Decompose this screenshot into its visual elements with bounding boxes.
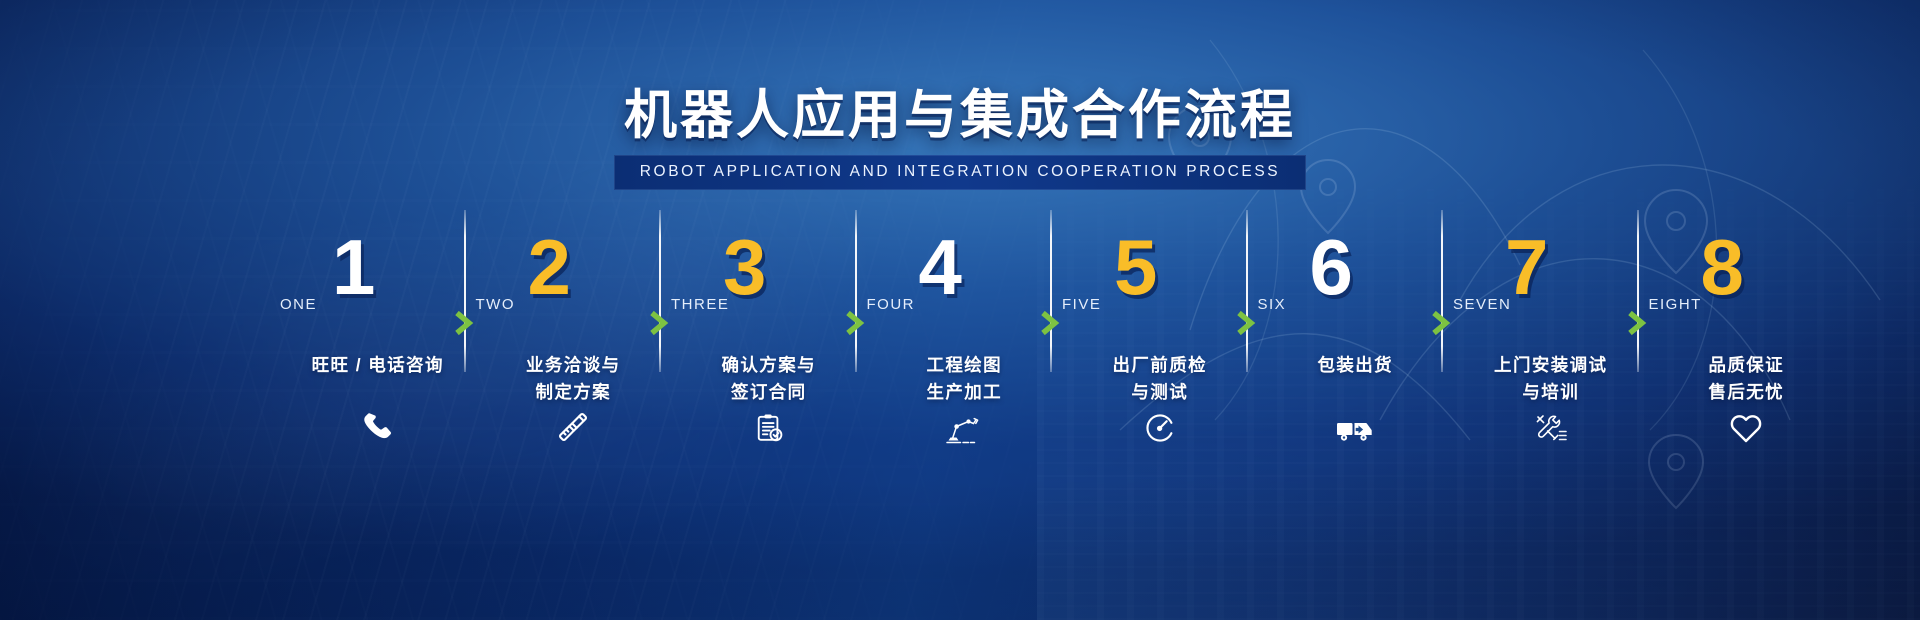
step-description: 包装出货: [1250, 352, 1446, 379]
step-number: 3: [723, 228, 766, 306]
step-description: 品质保证售后无忧: [1641, 352, 1837, 406]
step-divider-line: [1441, 210, 1443, 372]
page-title: 机器人应用与集成合作流程: [0, 88, 1920, 143]
banner-subtitle: ROBOT APPLICATION AND INTEGRATION COOPER…: [614, 155, 1306, 190]
step-description: 工程绘图生产加工: [859, 352, 1055, 406]
step-description-line: 生产加工: [875, 379, 1055, 406]
step-number: 1: [332, 228, 375, 306]
step-divider-line: [1050, 210, 1052, 372]
step-divider-line: [1637, 210, 1639, 372]
step-description-line: 与培训: [1461, 379, 1641, 406]
step-description-line: 出厂前质检: [1070, 352, 1250, 379]
step-description: 旺旺 / 电话咨询: [272, 352, 468, 379]
step-description-line: 制定方案: [484, 379, 664, 406]
step-word-label: ONE: [280, 296, 317, 313]
step-word-label: SEVEN: [1453, 296, 1511, 313]
step-number-row: SIX6: [1250, 246, 1446, 350]
step-description-line: 包装出货: [1266, 352, 1446, 379]
step-description-line: 品质保证: [1657, 352, 1837, 379]
step-divider-line: [1246, 210, 1248, 372]
ruler-pencil-icon: [468, 410, 664, 446]
step-word-label: TWO: [476, 296, 516, 313]
process-banner: 机器人应用与集成合作流程 ROBOT APPLICATION AND INTEG…: [0, 0, 1920, 620]
step-divider-line: [464, 210, 466, 372]
step-number-row: ONE1: [272, 246, 468, 350]
step-description-line: 签订合同: [679, 379, 859, 406]
step-description-line: 确认方案与: [679, 352, 859, 379]
step-number-row: FOUR4: [859, 246, 1055, 350]
step-description-line: 旺旺 / 电话咨询: [288, 352, 468, 379]
step-number-row: TWO2: [468, 246, 664, 350]
process-step-5: FIVE5出厂前质检与测试: [1054, 246, 1250, 446]
step-number-row: FIVE5: [1054, 246, 1250, 350]
process-step-list: ONE1旺旺 / 电话咨询TWO2业务洽谈与制定方案 THREE3确认方案与签订…: [272, 246, 1836, 446]
process-step-8: EIGHT8品质保证售后无忧: [1641, 246, 1837, 446]
step-description-line: 业务洽谈与: [484, 352, 664, 379]
step-number-row: THREE3: [663, 246, 859, 350]
step-description: 确认方案与签订合同: [663, 352, 859, 406]
process-step-2: TWO2业务洽谈与制定方案: [468, 246, 664, 446]
contract-check-icon: [663, 412, 859, 446]
step-number: 7: [1505, 228, 1548, 306]
heart-icon: [1641, 412, 1837, 446]
step-number: 8: [1701, 228, 1744, 306]
gauge-icon: [1054, 412, 1250, 446]
process-step-3: THREE3确认方案与签订合同: [663, 246, 859, 446]
delivery-truck-icon: [1250, 416, 1446, 446]
step-word-label: SIX: [1258, 296, 1287, 313]
step-number: 5: [1114, 228, 1157, 306]
step-description-line: 售后无忧: [1657, 379, 1837, 406]
robot-arm-icon: [859, 414, 1055, 446]
process-step-6: SIX6包装出货: [1250, 246, 1446, 446]
step-word-label: FIVE: [1062, 296, 1101, 313]
process-step-1: ONE1旺旺 / 电话咨询: [272, 246, 468, 446]
step-divider-line: [659, 210, 661, 372]
phone-icon: [272, 410, 468, 446]
banner-header: 机器人应用与集成合作流程 ROBOT APPLICATION AND INTEG…: [0, 88, 1920, 190]
process-step-7: SEVEN7上门安装调试与培训: [1445, 246, 1641, 446]
step-number: 6: [1310, 228, 1353, 306]
step-word-label: FOUR: [867, 296, 916, 313]
step-description-line: 与测试: [1070, 379, 1250, 406]
step-description: 业务洽谈与制定方案: [468, 352, 664, 406]
step-description-line: 工程绘图: [875, 352, 1055, 379]
step-divider-line: [855, 210, 857, 372]
step-description-line: 上门安装调试: [1461, 352, 1641, 379]
step-word-label: THREE: [671, 296, 729, 313]
step-number: 2: [528, 228, 571, 306]
step-number-row: EIGHT8: [1641, 246, 1837, 350]
step-word-label: EIGHT: [1649, 296, 1702, 313]
step-number-row: SEVEN7: [1445, 246, 1641, 350]
wrench-tools-icon: [1445, 412, 1641, 446]
step-number: 4: [919, 228, 962, 306]
step-description: 上门安装调试与培训: [1445, 352, 1641, 406]
step-description: 出厂前质检与测试: [1054, 352, 1250, 406]
process-step-4: FOUR4工程绘图生产加工: [859, 246, 1055, 446]
